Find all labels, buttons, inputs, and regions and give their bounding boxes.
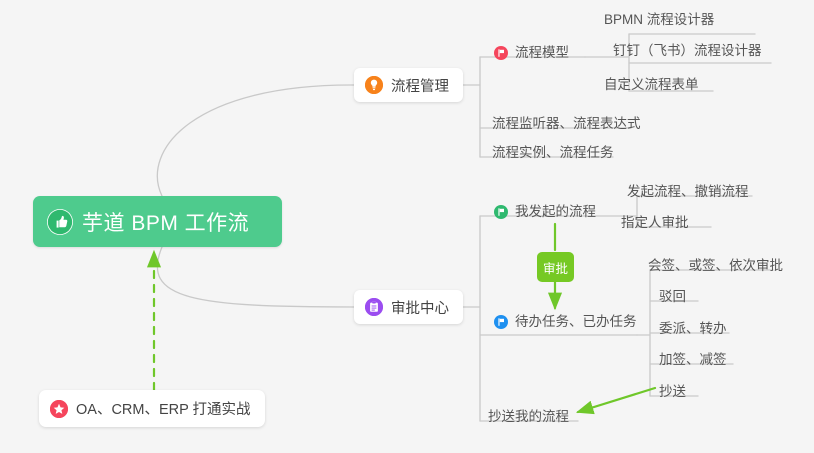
node-custom-form[interactable]: 自定义流程表单 <box>604 78 699 92</box>
root-label: 芋道 BPM 工作流 <box>82 207 249 237</box>
clipboard-icon <box>365 298 383 316</box>
node-label: 流程监听器、流程表达式 <box>492 116 641 131</box>
branch-label-approval-center: 审批中心 <box>391 297 449 318</box>
node-bpmn-designer[interactable]: BPMN 流程设计器 <box>604 13 714 27</box>
annotation-badge-approval: 审批 <box>537 252 574 282</box>
annotation-label: 审批 <box>543 258 568 277</box>
node-label: 流程模型 <box>515 46 569 60</box>
node-add-remove-sign[interactable]: 加签、减签 <box>659 353 727 367</box>
node-start-cancel-process[interactable]: 发起流程、撤销流程 <box>627 185 749 199</box>
node-label: BPMN 流程设计器 <box>604 12 714 27</box>
node-cc-to-me-process[interactable]: 抄送我的流程 <box>488 410 569 424</box>
lightbulb-icon <box>365 76 383 94</box>
callout-node-integration[interactable]: OA、CRM、ERP 打通实战 <box>39 390 265 427</box>
node-label: 委派、转办 <box>659 321 727 336</box>
node-label: 加签、减签 <box>659 352 727 367</box>
flag-icon <box>494 46 508 60</box>
node-label: 抄送 <box>659 384 686 399</box>
node-label: 会签、或签、依次审批 <box>648 258 783 273</box>
node-delegate-transfer[interactable]: 委派、转办 <box>659 322 727 336</box>
node-todo-done-tasks[interactable]: 待办任务、已办任务 <box>494 315 637 329</box>
node-label: 我发起的流程 <box>515 205 596 219</box>
branch-node-process-management[interactable]: 流程管理 <box>354 68 463 102</box>
mindmap-canvas: 芋道 BPM 工作流 流程管理 审批中心 <box>0 0 814 453</box>
node-process-listener[interactable]: 流程监听器、流程表达式 <box>492 117 641 131</box>
node-my-initiated-process[interactable]: 我发起的流程 <box>494 205 596 219</box>
callout-label: OA、CRM、ERP 打通实战 <box>76 398 251 419</box>
node-label: 自定义流程表单 <box>604 77 699 92</box>
branch-node-approval-center[interactable]: 审批中心 <box>354 290 463 324</box>
node-label: 指定人审批 <box>621 215 689 230</box>
node-label: 发起流程、撤销流程 <box>627 184 749 199</box>
root-node[interactable]: 芋道 BPM 工作流 <box>33 196 282 247</box>
node-process-instance[interactable]: 流程实例、流程任务 <box>492 146 614 160</box>
node-label: 驳回 <box>659 289 686 304</box>
node-label: 抄送我的流程 <box>488 409 569 424</box>
flag-icon <box>494 205 508 219</box>
node-label: 钉钉（飞书）流程设计器 <box>613 43 762 58</box>
node-dingtalk-designer[interactable]: 钉钉（飞书）流程设计器 <box>613 44 762 58</box>
flag-icon <box>494 315 508 329</box>
node-label: 待办任务、已办任务 <box>515 315 637 329</box>
node-countersign-modes[interactable]: 会签、或签、依次审批 <box>648 259 783 273</box>
branch-label-process-management: 流程管理 <box>391 75 449 96</box>
thumbs-up-icon <box>47 209 73 235</box>
node-cc[interactable]: 抄送 <box>659 385 686 399</box>
node-reject[interactable]: 驳回 <box>659 290 686 304</box>
node-process-model[interactable]: 流程模型 <box>494 46 569 60</box>
star-icon <box>50 400 68 418</box>
node-assignee-approval[interactable]: 指定人审批 <box>621 216 689 230</box>
node-label: 流程实例、流程任务 <box>492 145 614 160</box>
